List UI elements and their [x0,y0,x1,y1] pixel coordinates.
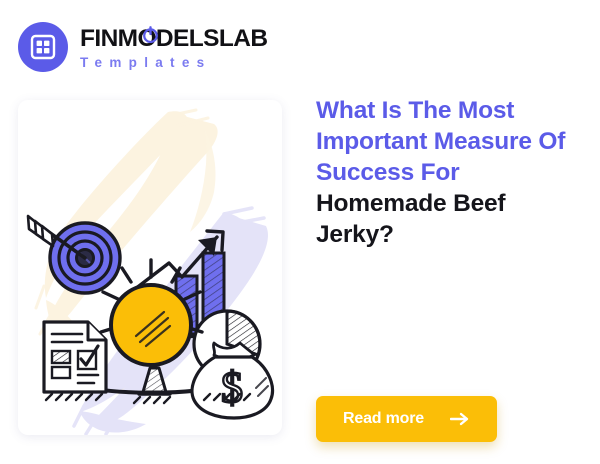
brand-name-text: FINMODELSLAB [80,25,267,52]
headline-secondary: Homemade Beef Jerky? [316,190,505,248]
power-icon [142,26,159,43]
svg-text:$: $ [221,363,243,412]
page-title: What Is The Most Important Measure Of Su… [316,95,584,250]
brand-name: FINMODELSLAB [80,27,267,52]
brand-tagline: Templates [80,56,267,70]
read-more-button[interactable]: Read more [316,396,497,442]
promo-card: FINMODELSLAB Templates [0,0,600,464]
read-more-label: Read more [343,411,424,427]
brand-logo: FINMODELSLAB Templates [18,22,267,72]
headline-primary: What Is The Most Important Measure Of Su… [316,97,565,186]
illustration-panel: $ [18,100,282,435]
arrow-right-icon [450,412,470,426]
checklist-document [44,322,106,392]
grid-squares-icon [18,22,68,72]
brand-wordmark: FINMODELSLAB Templates [80,25,267,69]
success-measurement-illustration: $ [18,100,282,435]
idea-circle [111,285,191,365]
